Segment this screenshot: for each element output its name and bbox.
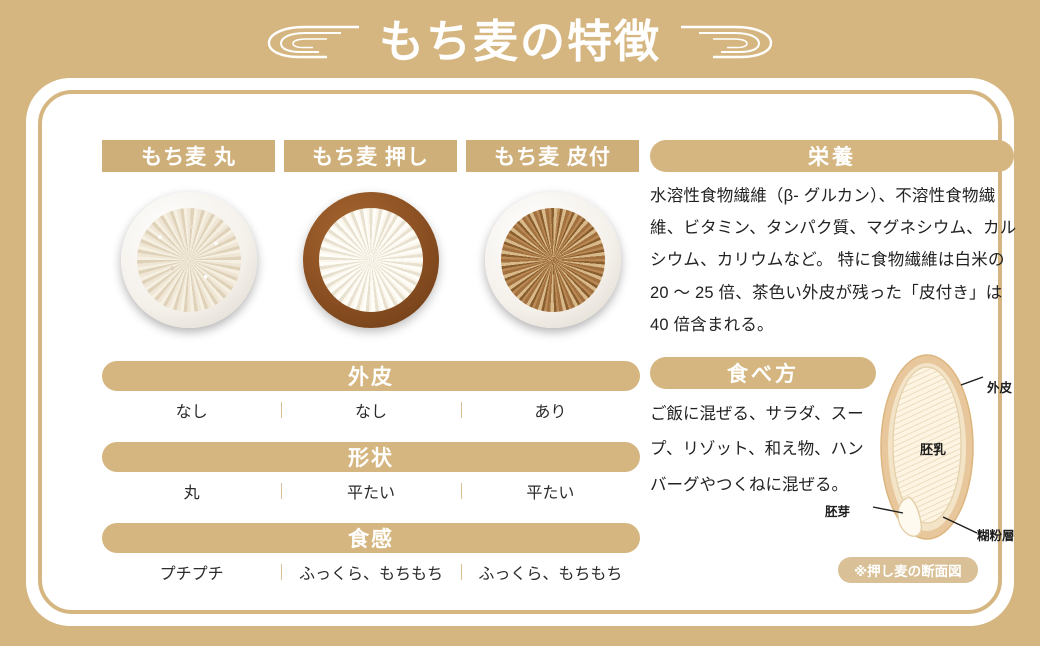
title-ornament-left [241, 13, 361, 69]
product-column-0: もち麦 丸 [102, 140, 275, 348]
label-outer-skin: 外皮 [987, 377, 1012, 396]
howto-body: ご飯に混ぜる、サラダ、スープ、リゾット、和え物、ハンバーグやつくねに混ぜる。 [650, 397, 865, 503]
barley-grains-husked [501, 208, 605, 312]
card-content: もち麦 丸 もち麦 押し [72, 140, 1020, 640]
barley-grains-flake [319, 208, 423, 312]
attribute-label-0: 外皮 [102, 361, 640, 391]
leader-line-outer-skin [961, 377, 983, 385]
main-card: もち麦 丸 もち麦 押し [26, 78, 1014, 626]
grain-cross-section-diagram: 外皮 胚乳 胚芽 糊粉層 [865, 349, 1025, 559]
product-column-2: もち麦 皮付 [466, 140, 639, 348]
product-name-2: もち麦 皮付 [466, 140, 639, 172]
nutrition-heading: 栄養 [650, 140, 1014, 172]
product-photo-2 [466, 172, 639, 348]
page-title: もち麦の特徴 [379, 19, 661, 64]
attribute-cell: 丸 [102, 479, 281, 503]
attribute-label-2: 食感 [102, 523, 640, 553]
attribute-values-1: 丸 平たい 平たい [102, 472, 640, 510]
attribute-cell: なし [281, 398, 460, 422]
attribute-label-1: 形状 [102, 442, 640, 472]
title-ornament-right [679, 13, 799, 69]
product-photo-1 [284, 172, 457, 348]
barley-grains-round [137, 208, 241, 312]
attribute-cell: なし [102, 398, 281, 422]
page-title-row: もち麦の特徴 [0, 6, 1040, 76]
attribute-values-2: プチプチ ふっくら、もちもち ふっくら、もちもち [102, 553, 640, 591]
label-endosperm: 胚乳 [920, 439, 946, 458]
attribute-cell: ふっくら、もちもち [461, 560, 640, 584]
diagram-caption: ※押し麦の断面図 [838, 557, 978, 583]
attribute-row-texture: 食感 プチプチ ふっくら、もちもち ふっくら、もちもち [102, 523, 640, 591]
label-germ: 胚芽 [825, 501, 850, 520]
attribute-cell: 平たい [461, 479, 640, 503]
product-photo-0 [102, 172, 275, 348]
attribute-cell: ふっくら、もちもち [281, 560, 460, 584]
attribute-row-outer-skin: 外皮 なし なし あり [102, 361, 640, 429]
infographic-root: もち麦の特徴 もち麦 丸 [0, 0, 1040, 646]
product-column-1: もち麦 押し [284, 140, 457, 348]
attribute-cell: あり [461, 398, 640, 422]
product-name-1: もち麦 押し [284, 140, 457, 172]
attribute-row-shape: 形状 丸 平たい 平たい [102, 442, 640, 510]
right-panel: 栄養 水溶性食物繊維（β- グルカン）、不溶性食物繊維、ビタミン、タンパク質、マ… [650, 140, 1020, 503]
attribute-cell: プチプチ [102, 560, 281, 584]
product-columns: もち麦 丸 もち麦 押し [102, 140, 640, 348]
howto-section: 食べ方 ご飯に混ぜる、サラダ、スープ、リゾット、和え物、ハンバーグやつくねに混ぜ… [650, 357, 1020, 503]
product-name-0: もち麦 丸 [102, 140, 275, 172]
label-aleurone: 糊粉層 [977, 525, 1015, 544]
howto-heading: 食べ方 [650, 357, 876, 389]
nutrition-body: 水溶性食物繊維（β- グルカン）、不溶性食物繊維、ビタミン、タンパク質、マグネシ… [650, 180, 1020, 341]
comparison-table: もち麦 丸 もち麦 押し [102, 140, 640, 591]
attribute-values-0: なし なし あり [102, 391, 640, 429]
attribute-cell: 平たい [281, 479, 460, 503]
